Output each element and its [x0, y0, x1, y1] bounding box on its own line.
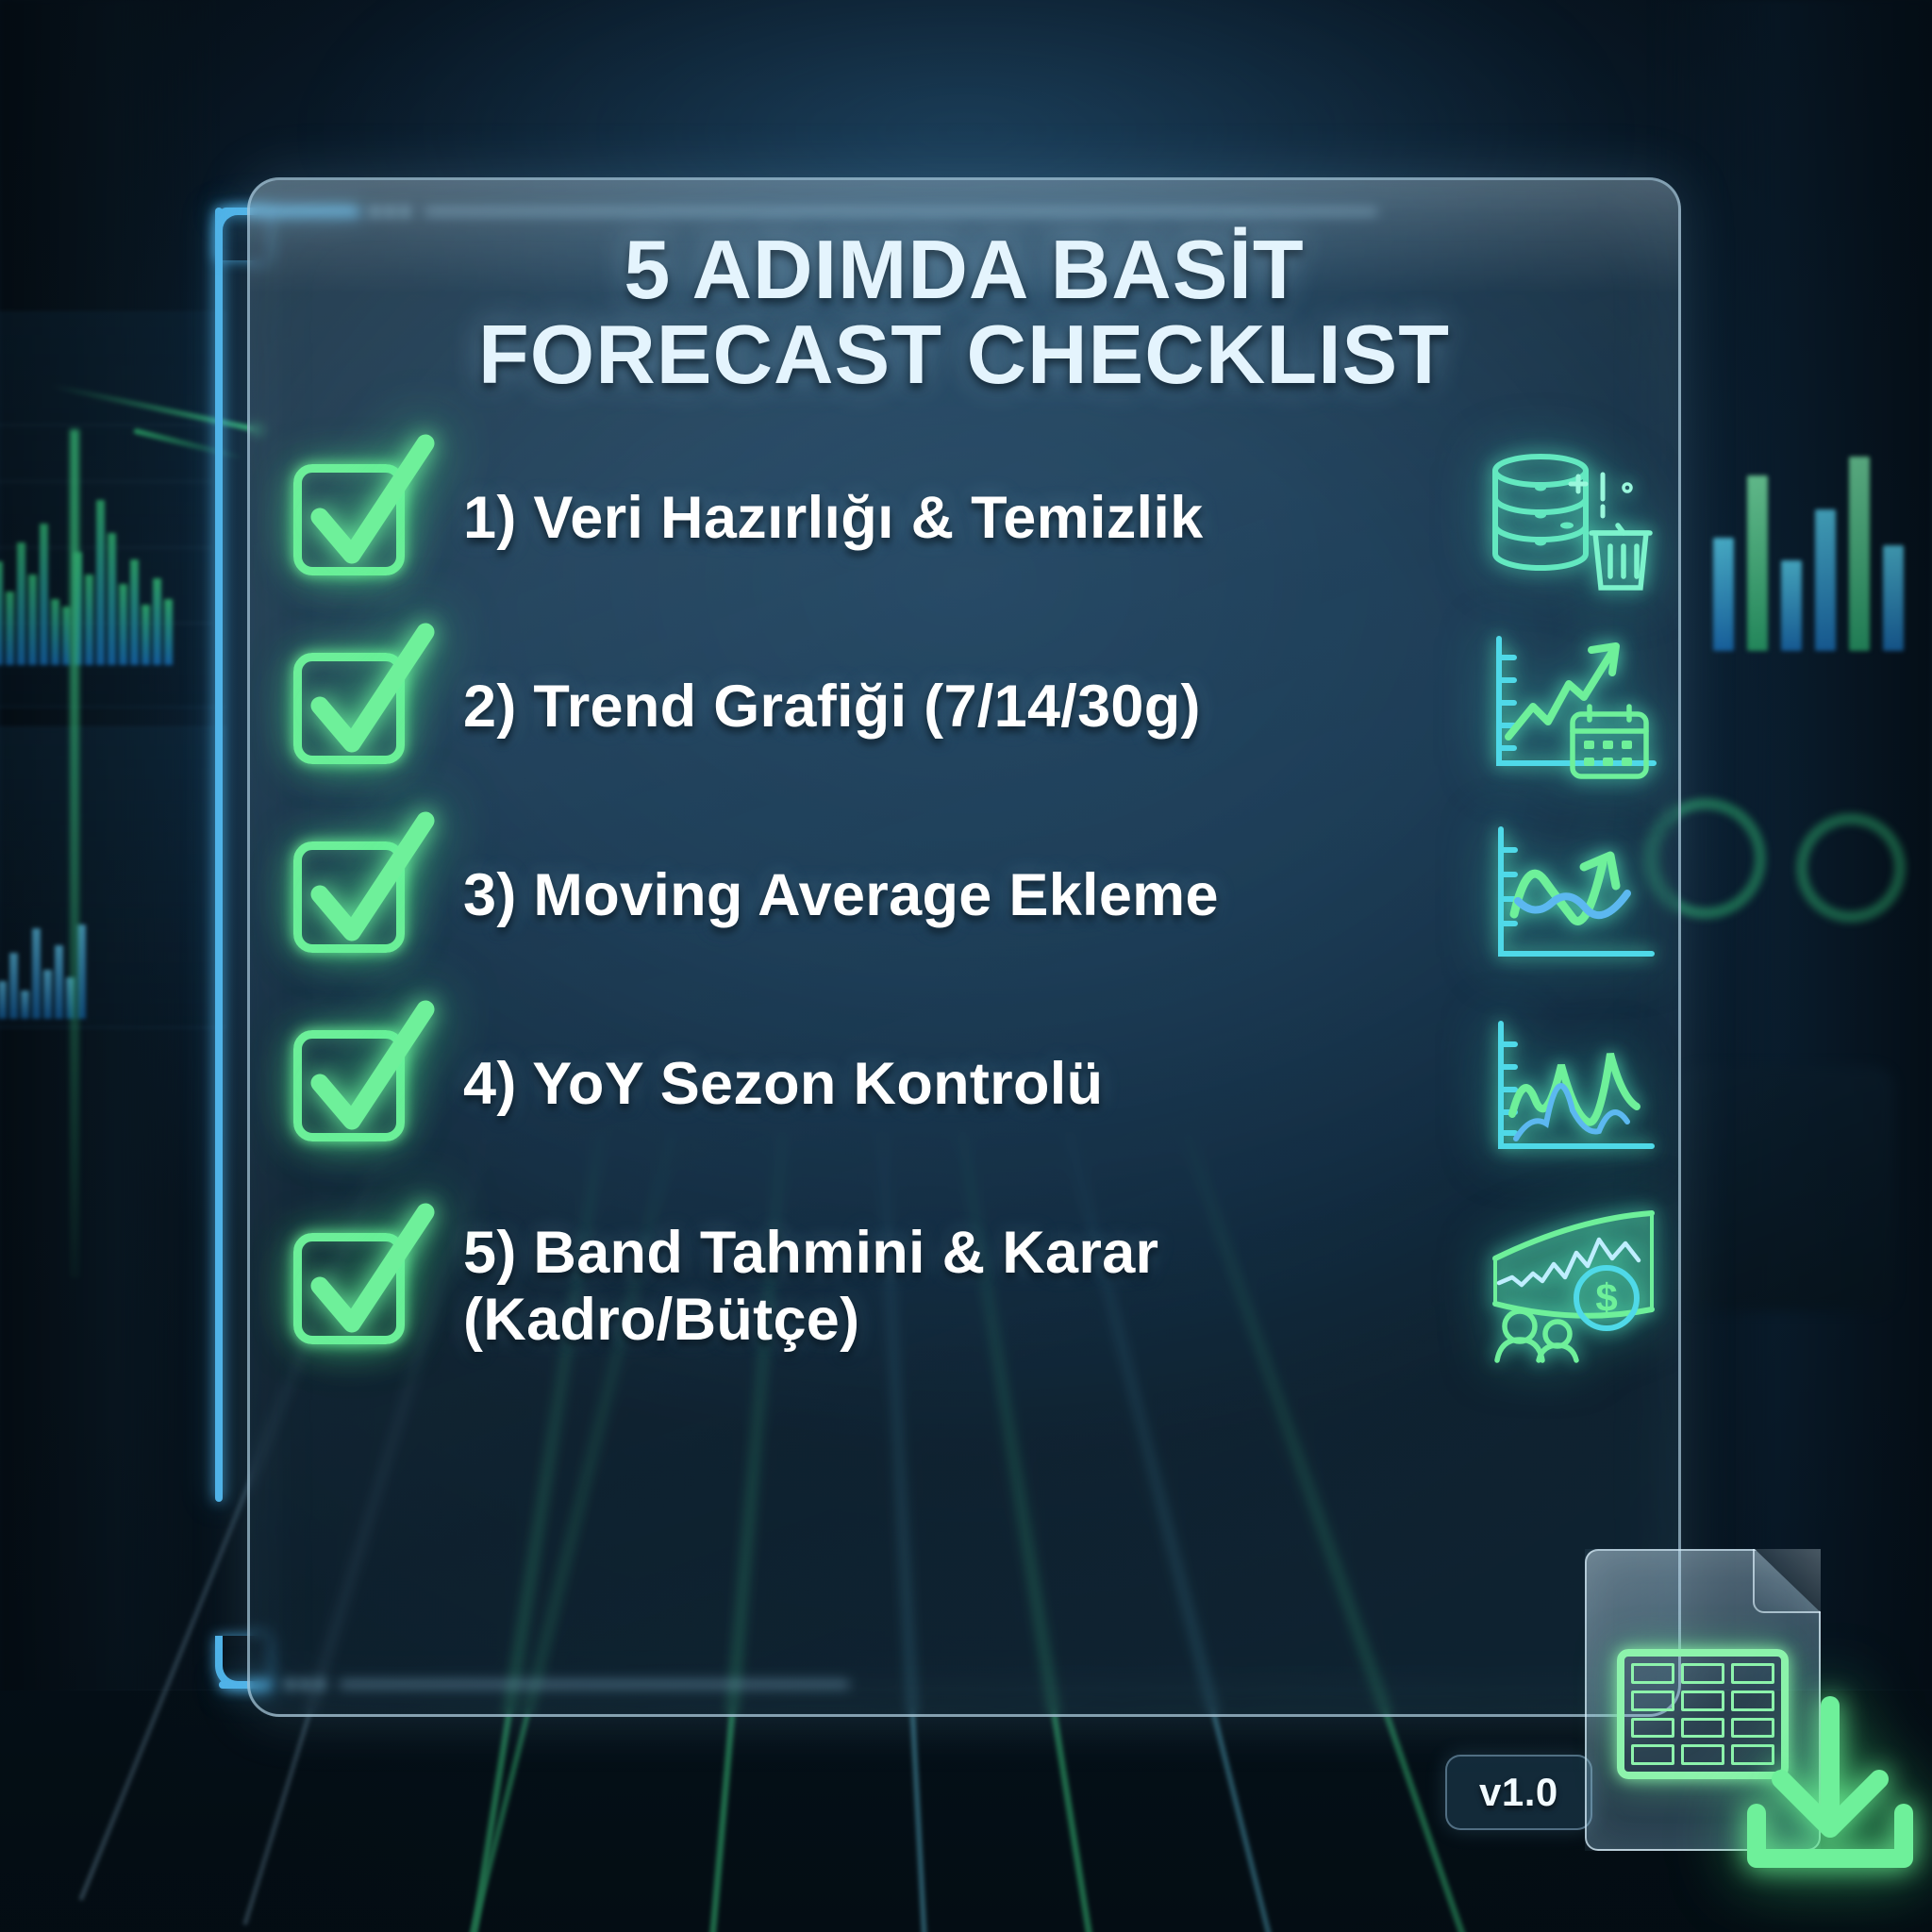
checklist-card: 5 ADIMDA BASİT FORECAST CHECKLIST 1) Ver…	[247, 177, 1681, 1717]
file-corner-fold	[1753, 1549, 1821, 1613]
version-badge: v1.0	[1445, 1755, 1592, 1830]
checklist: 1) Veri Hazırlığı & Temizlik	[250, 424, 1678, 1395]
checkmark-icon	[288, 808, 439, 968]
checklist-item-2-label: 2) Trend Grafiği (7/14/30g)	[463, 674, 1486, 741]
checkbox-checked-1[interactable]	[288, 451, 422, 585]
checkmark-icon	[288, 619, 439, 779]
checklist-item-3-label: 3) Moving Average Ekleme	[463, 862, 1486, 929]
title-line-2: FORECAST CHECKLIST	[250, 312, 1678, 397]
checkmark-icon	[288, 1199, 439, 1359]
svg-text:$: $	[1595, 1275, 1617, 1320]
trend-chart-calendar-icon	[1486, 631, 1665, 782]
checklist-item-4[interactable]: 4) YoY Sezon Kontrolü	[250, 990, 1678, 1178]
checkmark-icon	[288, 996, 439, 1157]
title-line-1: 5 ADIMDA BASİT	[624, 223, 1304, 316]
checklist-item-2[interactable]: 2) Trend Grafiği (7/14/30g)	[250, 612, 1678, 801]
database-cleanup-icon	[1486, 442, 1665, 593]
checkbox-checked-3[interactable]	[288, 828, 422, 962]
checklist-item-5-line-2: (Kadro/Bütçe)	[463, 1287, 859, 1353]
checklist-item-3[interactable]: 3) Moving Average Ekleme	[250, 801, 1678, 990]
download-arrow-icon[interactable]	[1738, 1692, 1923, 1890]
forecast-band-money-people-icon: $	[1486, 1211, 1665, 1362]
checkbox-checked-4[interactable]	[288, 1017, 422, 1151]
checklist-item-5-line-1: 5) Band Tahmini & Karar	[463, 1220, 1158, 1286]
checklist-item-4-label: 4) YoY Sezon Kontrolü	[463, 1051, 1486, 1118]
checkbox-checked-5[interactable]	[288, 1220, 422, 1354]
seasonality-waves-chart-icon	[1486, 1008, 1665, 1159]
checkbox-checked-2[interactable]	[288, 640, 422, 774]
page-title: 5 ADIMDA BASİT FORECAST CHECKLIST	[250, 227, 1678, 397]
moving-average-chart-icon	[1486, 820, 1665, 971]
checklist-item-1-label: 1) Veri Hazırlığı & Temizlik	[463, 485, 1486, 552]
checklist-item-5-label: 5) Band Tahmini & Karar (Kadro/Bütçe)	[463, 1220, 1486, 1353]
checklist-item-5[interactable]: 5) Band Tahmini & Karar (Kadro/Bütçe) $	[250, 1178, 1678, 1395]
checklist-item-1[interactable]: 1) Veri Hazırlığı & Temizlik	[250, 424, 1678, 612]
checkmark-icon	[288, 430, 439, 591]
